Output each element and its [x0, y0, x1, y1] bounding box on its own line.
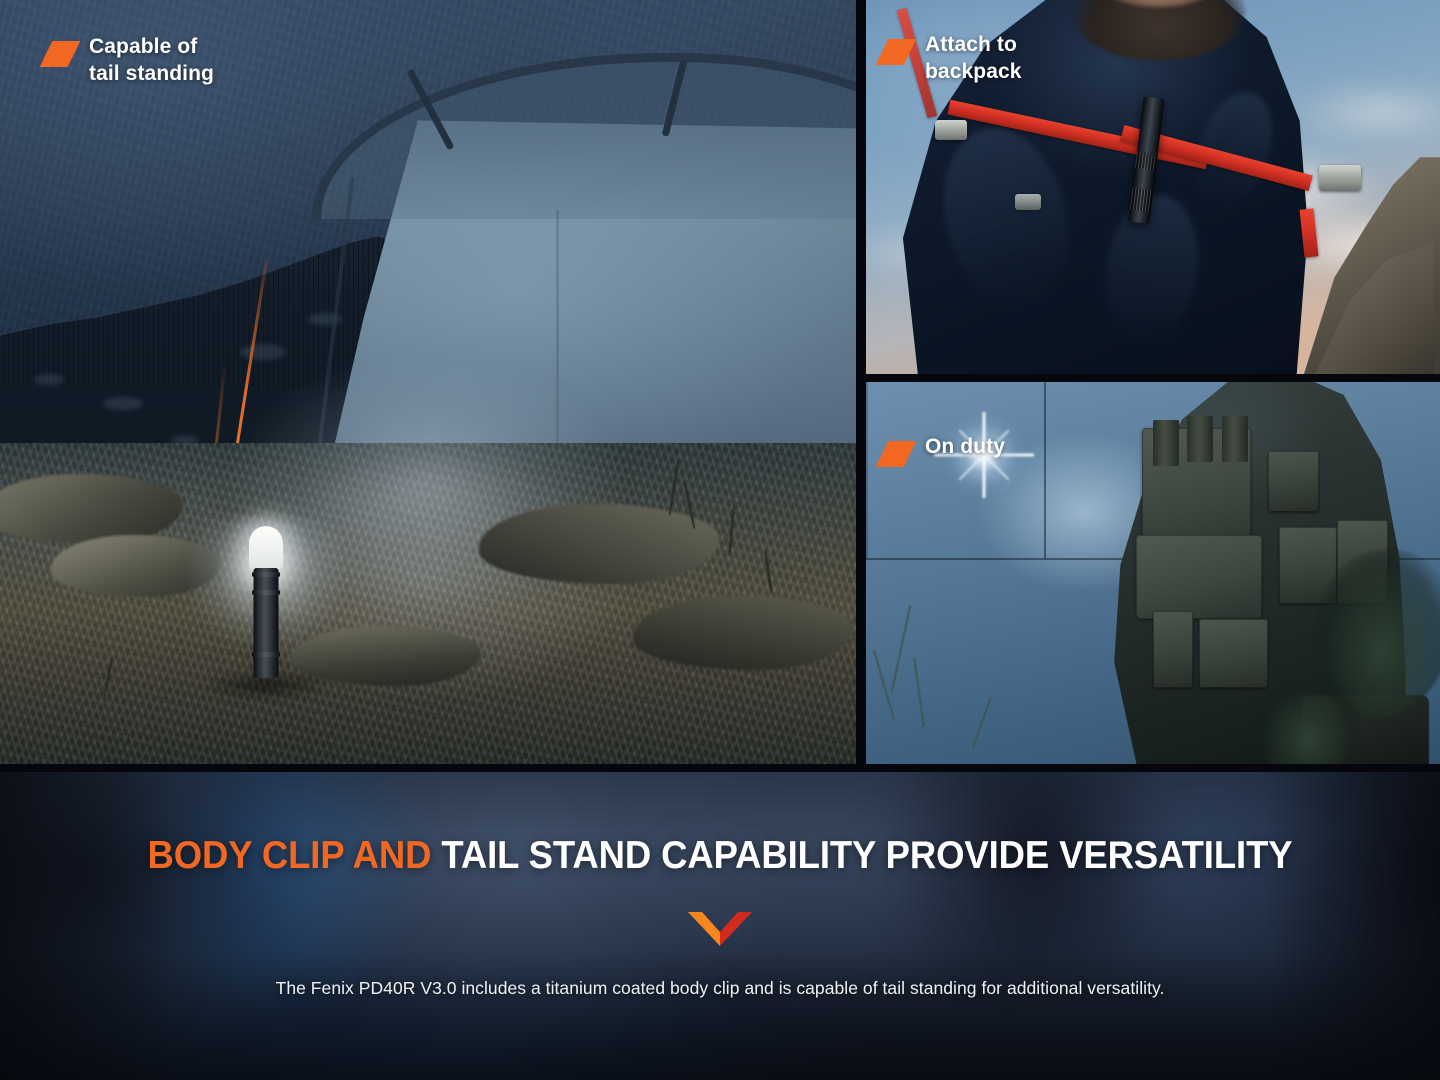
wall-seam — [1044, 382, 1046, 558]
magazine-pouch — [1222, 416, 1248, 462]
tent-night-camp-photo — [0, 0, 856, 764]
flashlight-body — [253, 568, 278, 678]
banner-headline: BODY CLIP AND TAIL STAND CAPABILITY PROV… — [47, 836, 1393, 875]
flashlight-knurling — [1130, 188, 1154, 212]
gear-pouch — [1268, 451, 1320, 512]
magazine-pouch — [1153, 420, 1179, 466]
slash-accent-icon — [40, 41, 81, 67]
gear-pouch — [1199, 619, 1268, 688]
tent-dome-frame — [312, 53, 856, 218]
foreground-rock — [479, 504, 719, 584]
plate-carrier-vest — [1136, 535, 1262, 619]
flashlight-ring — [252, 572, 280, 577]
photo-panel-on-duty: On duty — [866, 382, 1440, 764]
strap-buckle — [1015, 194, 1041, 210]
headline-main-text: TAIL STAND CAPABILITY PROVIDE VERSATILIT… — [441, 834, 1292, 877]
label-on-duty: On duty — [882, 434, 1005, 467]
label-text: Capable of tail standing — [89, 34, 214, 88]
slash-accent-icon — [876, 39, 917, 65]
holster — [1153, 611, 1193, 687]
strap-buckle — [935, 120, 967, 140]
product-feature-page: Capable of tail standing — [0, 0, 1440, 1080]
flashlight-tail-standing — [244, 520, 288, 685]
slash-accent-icon — [876, 441, 917, 467]
foreground-rock — [0, 474, 183, 544]
label-tail-standing: Capable of tail standing — [46, 34, 214, 88]
label-text: Attach to backpack — [925, 32, 1022, 86]
label-attach-to-backpack: Attach to backpack — [882, 32, 1022, 86]
wall-seam — [866, 382, 868, 558]
photo-panel-tail-standing: Capable of tail standing — [0, 0, 856, 764]
photo-panel-attach-to-backpack: Attach to backpack — [866, 0, 1440, 374]
foreground-rock — [633, 596, 853, 670]
flashlight-ring — [252, 652, 280, 657]
flashlight-diffuser-head — [249, 526, 283, 570]
flashlight-knurling — [1135, 152, 1158, 170]
label-text: On duty — [925, 434, 1005, 461]
flashlight-ring — [252, 590, 280, 595]
headline-accent-text: BODY CLIP AND — [148, 834, 442, 877]
bush — [1256, 680, 1359, 764]
magazine-pouch — [1187, 416, 1213, 462]
strap-buckle — [1319, 165, 1361, 191]
chevron-down-icon — [684, 908, 756, 948]
banner-body-copy: The Fenix PD40R V3.0 includes a titanium… — [0, 978, 1440, 999]
